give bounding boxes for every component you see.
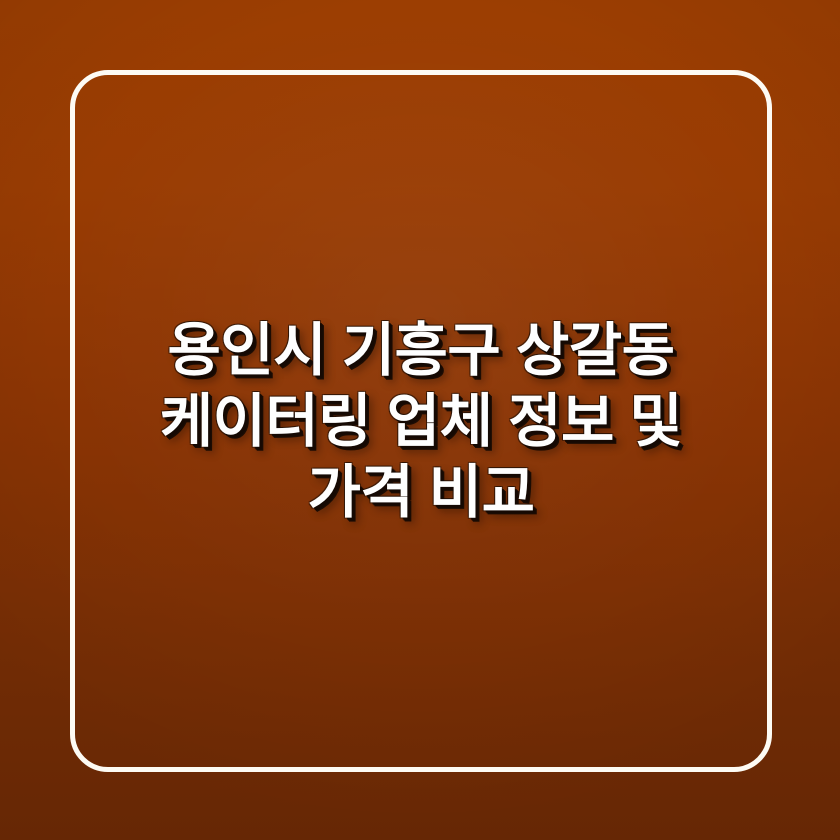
title-line-2: 케이터링 업체 정보 및 <box>96 386 746 457</box>
banner-title: 용인시 기흥구 상갈동 케이터링 업체 정보 및 가격 비교 <box>96 315 746 528</box>
promo-banner: 용인시 기흥구 상갈동 케이터링 업체 정보 및 가격 비교 <box>0 0 840 840</box>
title-line-3: 가격 비교 <box>96 457 746 528</box>
title-line-1: 용인시 기흥구 상갈동 <box>96 315 746 386</box>
headline-container: 용인시 기흥구 상갈동 케이터링 업체 정보 및 가격 비교 <box>70 70 772 772</box>
